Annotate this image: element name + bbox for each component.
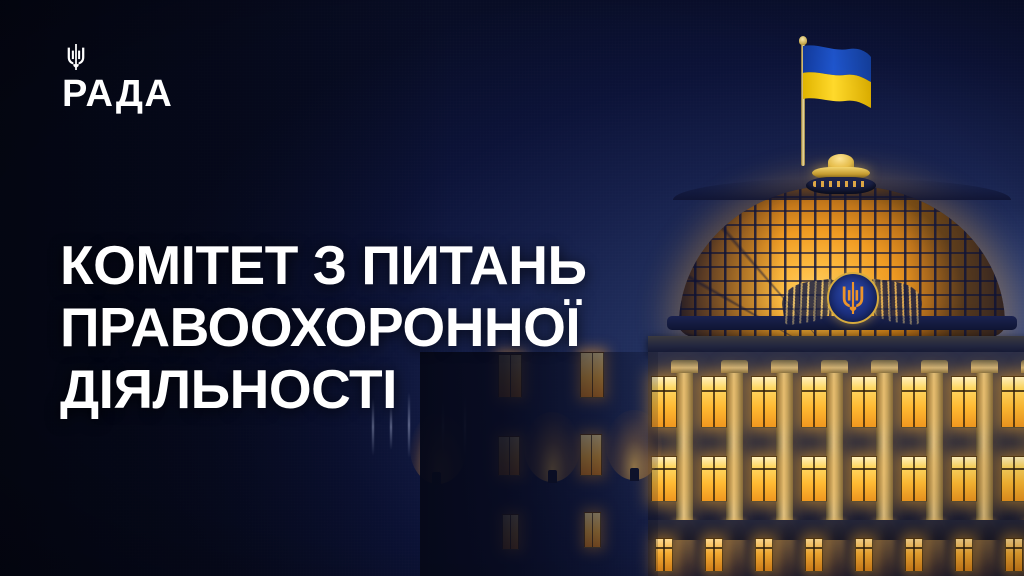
facade-window [751,376,777,428]
title-card: РАДА КОМІТЕТ З ПИТАНЬ ПРАВООХОРОННОЇ ДІЯ… [0,0,1024,576]
facade-column [876,370,893,520]
facade-window [851,376,877,428]
facade-window [801,456,827,502]
ground-floor-window [955,538,973,572]
facade-window [901,376,927,428]
ground-floor-window [705,538,723,572]
facade-window [751,456,777,502]
ground-floor-window [905,538,923,572]
ground-floor-window [1005,538,1023,572]
title-line-3: ДІЯЛЬНОСТІ [60,358,740,420]
facade-column [776,370,793,520]
facade-window [1001,376,1024,428]
page-title: КОМІТЕТ З ПИТАНЬ ПРАВООХОРОННОЇ ДІЯЛЬНОС… [60,234,740,420]
facade-window [801,376,827,428]
flagpole [793,36,913,166]
tryzub-icon [64,44,88,70]
facade-column [976,370,993,520]
ukrainian-flag-icon [803,42,923,122]
facade-window [951,376,977,428]
facade-window [1001,456,1024,502]
lantern-drum [806,177,876,194]
emblem-disc [827,272,879,324]
rada-wordmark: РАДА [62,75,173,113]
facade-window [851,456,877,502]
tryzub-icon [840,282,866,314]
state-emblem [782,272,922,334]
ground-floor-window [755,538,773,572]
rada-logo[interactable]: РАДА [62,44,173,113]
facade-window [701,456,727,502]
facade-column [826,370,843,520]
ground-floor-window [805,538,823,572]
facade-plinth [648,520,1024,540]
facade-column [926,370,943,520]
dome-lantern [802,154,880,196]
ground-floor-window [855,538,873,572]
facade-window [901,456,927,502]
title-line-1: КОМІТЕТ З ПИТАНЬ [60,234,740,296]
facade-window [951,456,977,502]
title-line-2: ПРАВООХОРОННОЇ [60,296,740,358]
